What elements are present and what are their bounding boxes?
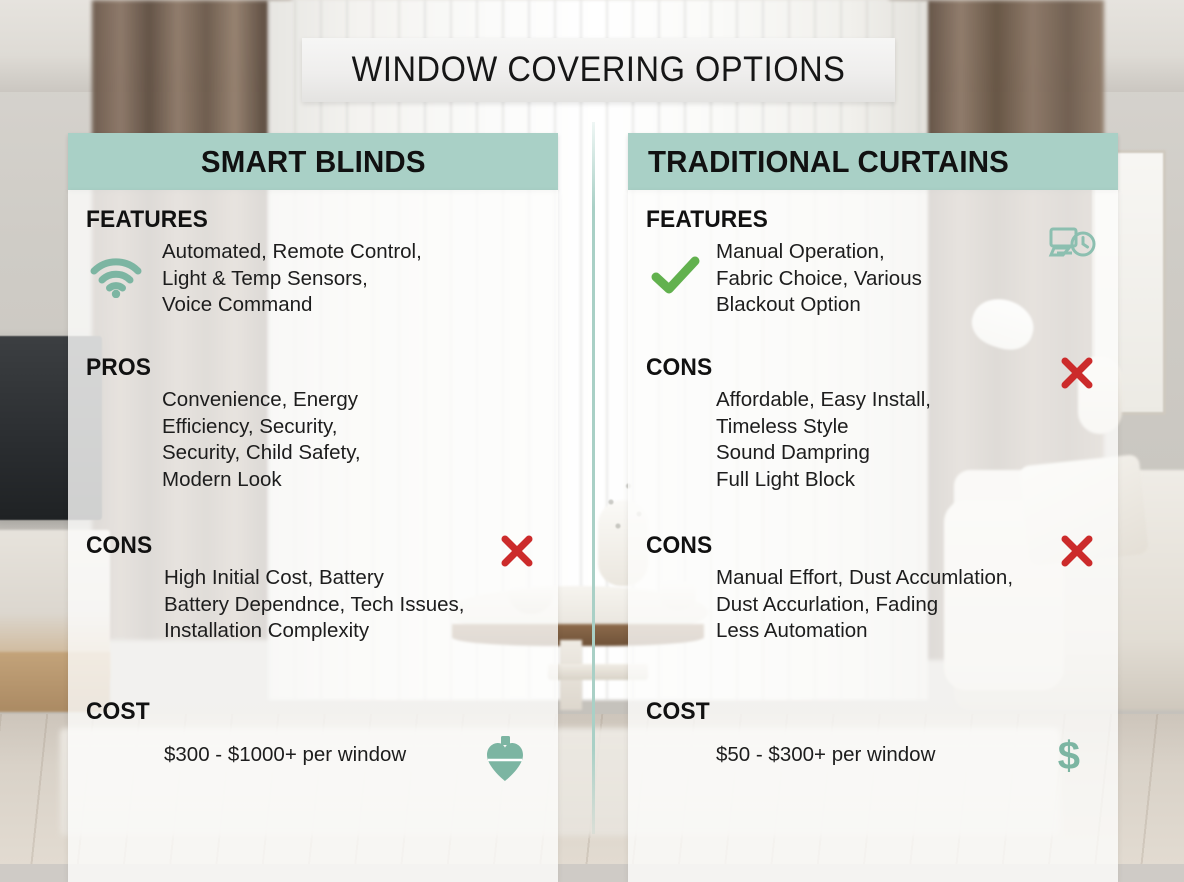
text-line: Efficiency, Security, (162, 414, 540, 441)
text-line: Manual Operation, (716, 239, 1100, 266)
text-line: Manual Effort, Dust Accumlation, (716, 565, 1100, 592)
column-body-traditional-curtains: FEATURES Manual Operati (628, 190, 1118, 882)
text-line: Fabric Choice, Various (716, 266, 1100, 293)
section-label: FEATURES (86, 206, 517, 234)
section-cons-secondary: CONS Manual Effort, Dust Accumlation, Du… (646, 532, 1100, 698)
text-line: Blackout Option (716, 292, 1100, 319)
heart-shield-icon (484, 736, 526, 782)
text-line: Full Light Block (716, 467, 1100, 494)
section-label: COST (646, 698, 1077, 726)
title-banner: WINDOW COVERING OPTIONS (302, 38, 895, 102)
red-x-icon (1060, 356, 1094, 390)
text-line: Security, Child Safety, (162, 440, 540, 467)
column-divider (592, 122, 595, 834)
section-label: CONS (646, 354, 1077, 382)
text-line: Battery Dependnce, Tech Issues, (164, 592, 540, 619)
section-pros: PROS Convenience, Energy Efficiency, Sec… (86, 354, 540, 532)
text-line: Convenience, Energy (162, 387, 540, 414)
text-line: Light & Temp Sensors, (162, 266, 540, 293)
text-line: Modern Look (162, 467, 540, 494)
column-header-smart-blinds: SMART BLINDS (68, 133, 558, 190)
column-traditional-curtains: TRADITIONAL CURTAINS FEATURES (628, 133, 1118, 882)
text-line: High Initial Cost, Battery (164, 565, 540, 592)
text-line: Sound Dampring (716, 440, 1100, 467)
section-label: COST (86, 698, 517, 726)
green-check-icon (650, 256, 702, 296)
section-text: High Initial Cost, Battery Battery Depen… (164, 565, 540, 645)
section-text: Affordable, Easy Install, Timeless Style… (716, 387, 1100, 493)
section-text: Manual Operation, Fabric Choice, Various… (716, 239, 1100, 319)
monitor-clock-icon (1048, 224, 1096, 268)
section-cost: COST $300 - $1000+ per window (86, 698, 540, 798)
text-line: Timeless Style (716, 414, 1100, 441)
section-text: Convenience, Energy Efficiency, Security… (162, 387, 540, 493)
section-features: FEATURES Automated, Remote Control, Ligh… (86, 206, 540, 354)
text-line: Installation Complexity (164, 618, 540, 645)
section-label: CONS (86, 532, 517, 560)
section-features: FEATURES Manual Operati (646, 206, 1100, 354)
section-text: Manual Effort, Dust Accumlation, Dust Ac… (716, 565, 1100, 645)
column-title: SMART BLINDS (201, 144, 426, 180)
text-line: Affordable, Easy Install, (716, 387, 1100, 414)
column-smart-blinds: SMART BLINDS FEATURES Automated, Remote … (68, 133, 558, 882)
wifi-icon (90, 254, 142, 298)
column-title: TRADITIONAL CURTAINS (648, 144, 1009, 180)
red-x-icon (500, 534, 534, 568)
section-cons: CONS High Initial Cost, Battery Battery … (86, 532, 540, 698)
section-label: CONS (646, 532, 1077, 560)
text-line: Automated, Remote Control, (162, 239, 540, 266)
section-label: FEATURES (646, 206, 1077, 234)
text-line: Less Automation (716, 618, 1100, 645)
column-body-smart-blinds: FEATURES Automated, Remote Control, Ligh… (68, 190, 558, 882)
page-title: WINDOW COVERING OPTIONS (352, 50, 846, 90)
text-line: Voice Command (162, 292, 540, 319)
section-cons-primary: CONS Affordable, Easy Install, Timeless … (646, 354, 1100, 532)
section-cost: COST $ $50 - $300+ per window (646, 698, 1100, 798)
section-text: $50 - $300+ per window (716, 742, 1100, 769)
text-line: Dust Accurlation, Fading (716, 592, 1100, 619)
red-x-icon (1060, 534, 1094, 568)
section-text: Automated, Remote Control, Light & Temp … (162, 239, 540, 319)
section-label: PROS (86, 354, 517, 382)
dollar-icon: $ (1058, 736, 1080, 776)
cost-value: $50 - $300+ per window (716, 742, 1100, 769)
column-header-traditional-curtains: TRADITIONAL CURTAINS (628, 133, 1118, 190)
